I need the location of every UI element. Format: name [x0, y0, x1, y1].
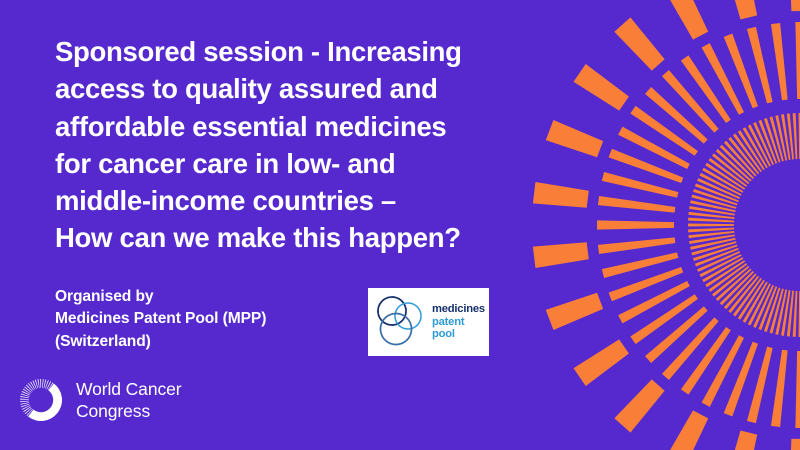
- world-cancer-congress-logo: World Cancer Congress: [16, 375, 181, 425]
- mpp-word-patent: patent: [432, 316, 485, 329]
- mpp-interlocking-circles-icon: [372, 294, 430, 350]
- page-title: Sponsored session - Increasing access to…: [55, 33, 555, 257]
- wcc-ring-burst-icon: [16, 375, 66, 425]
- mpp-logo-card: medicines patent pool: [368, 288, 489, 356]
- wcc-wordmark: World Cancer Congress: [76, 378, 181, 423]
- mpp-word-pool: pool: [432, 328, 485, 341]
- organiser-text: Organised by Medicines Patent Pool (MPP)…: [55, 286, 355, 353]
- mpp-wordmark: medicines patent pool: [432, 303, 485, 341]
- mpp-word-medicines: medicines: [432, 303, 485, 316]
- slide-canvas: Sponsored session - Increasing access to…: [0, 0, 800, 450]
